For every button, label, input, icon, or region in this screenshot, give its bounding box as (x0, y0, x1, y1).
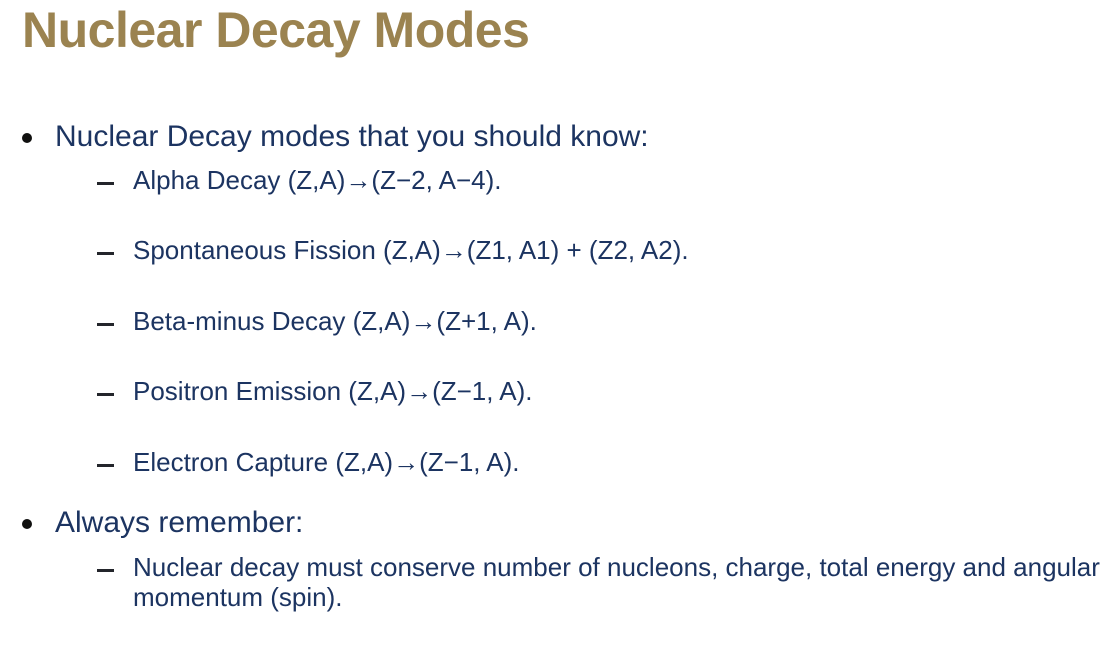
bullet-text: Electron Capture (Z,A)→(Z−1, A). (133, 448, 1118, 478)
dash-bullet-icon (97, 464, 114, 467)
dash-bullet-icon (97, 252, 114, 255)
bullet-item-level2: Electron Capture (Z,A)→(Z−1, A). (0, 448, 1118, 478)
round-bullet-icon (22, 519, 32, 529)
spacer (0, 407, 1118, 448)
bullet-item-level2: Beta-minus Decay (Z,A)→(Z+1, A). (0, 307, 1118, 337)
dash-bullet-icon (97, 323, 114, 326)
bullet-text: Alpha Decay (Z,A)→(Z−2, A−4). (133, 166, 1118, 196)
spacer (0, 154, 1118, 166)
spacer (0, 266, 1118, 307)
dash-bullet-icon (97, 393, 114, 396)
spacer (0, 478, 1118, 506)
bullet-text: Nuclear Decay modes that you should know… (55, 120, 649, 154)
bullet-text: Beta-minus Decay (Z,A)→(Z+1, A). (133, 307, 1118, 337)
bullet-item-level2: Nuclear decay must conserve number of nu… (0, 553, 1118, 612)
round-bullet-icon (22, 133, 32, 143)
bullet-text: Nuclear decay must conserve number of nu… (133, 553, 1108, 612)
slide-canvas: Nuclear Decay Modes Nuclear Decay modes … (0, 0, 1118, 663)
bullet-item-level1: Always remember: (0, 506, 1118, 540)
bullet-item-level2: Spontaneous Fission (Z,A)→(Z1, A1) + (Z2… (0, 236, 1118, 266)
bullet-text: Spontaneous Fission (Z,A)→(Z1, A1) + (Z2… (133, 236, 1118, 266)
bullet-text: Positron Emission (Z,A)→(Z−1, A). (133, 377, 1118, 407)
bullet-item-level2: Positron Emission (Z,A)→(Z−1, A). (0, 377, 1118, 407)
bullet-text: Always remember: (55, 506, 303, 540)
bullet-item-level2: Alpha Decay (Z,A)→(Z−2, A−4). (0, 166, 1118, 196)
spacer (0, 336, 1118, 377)
spacer (0, 195, 1118, 236)
page-title: Nuclear Decay Modes (22, 2, 529, 58)
bullet-item-level1: Nuclear Decay modes that you should know… (0, 120, 1118, 154)
dash-bullet-icon (97, 569, 114, 572)
spacer (0, 539, 1118, 553)
dash-bullet-icon (97, 182, 114, 185)
slide-body: Nuclear Decay modes that you should know… (0, 120, 1118, 613)
